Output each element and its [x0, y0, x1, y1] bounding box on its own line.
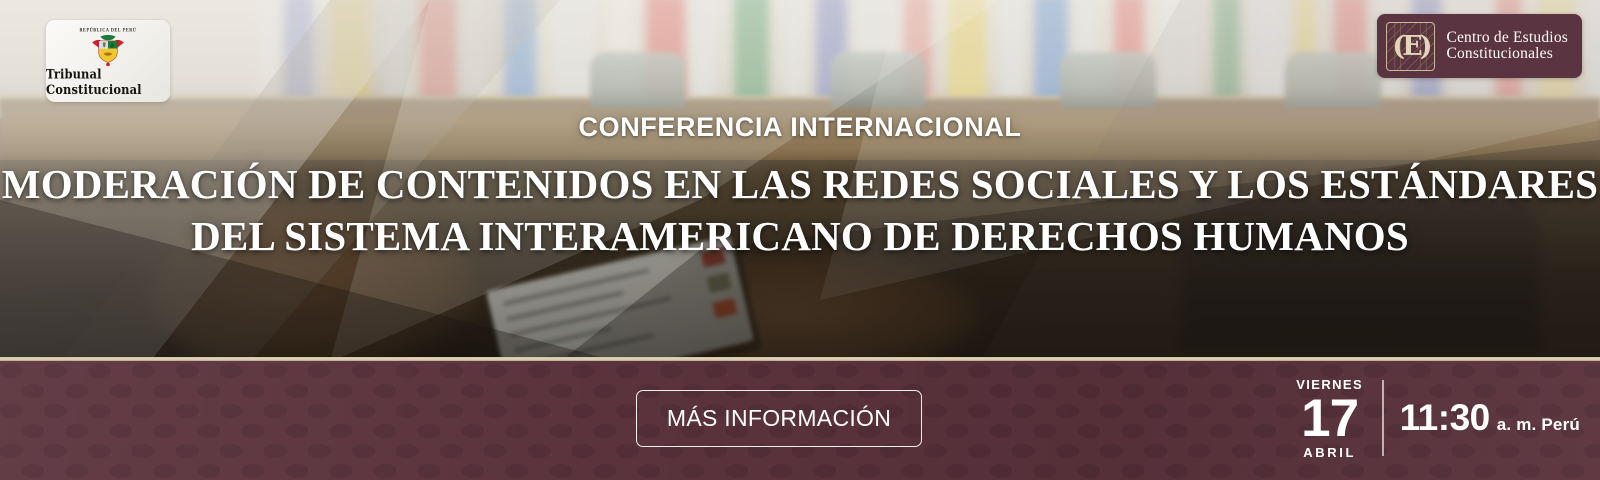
photo-flag — [1160, 0, 1201, 106]
photo-chair — [1060, 52, 1156, 108]
cec-monogram-glyph: (E) — [1387, 23, 1434, 70]
datetime-divider — [1382, 380, 1384, 456]
mas-informacion-button[interactable]: MÁS INFORMACIÓN — [636, 390, 922, 447]
photo-flag — [784, 0, 804, 106]
photo-flag — [1000, 0, 1023, 106]
photo-flag — [1250, 0, 1287, 106]
event-title-line-2: DEL SISTEMA INTERAMERICANO DE DERECHOS H… — [0, 211, 1600, 263]
photo-flag — [948, 0, 986, 106]
event-kicker: CONFERENCIA INTERNACIONAL — [0, 112, 1600, 143]
photo-chair — [1285, 52, 1381, 108]
cec-logo-text: Centro de Estudios Constitucionales — [1446, 30, 1568, 62]
event-title: MODERACIÓN DE CONTENIDOS EN LAS REDES SO… — [0, 159, 1600, 262]
event-day-number: 17 — [1301, 392, 1358, 445]
photo-flag — [734, 0, 769, 106]
cec-logo-line2: Constitucionales — [1446, 46, 1568, 62]
photo-flag — [1588, 0, 1600, 106]
photo-flag — [330, 0, 370, 106]
photo-flag — [284, 0, 313, 106]
cec-logo-line1: Centro de Estudios — [1446, 30, 1568, 46]
photo-flag — [260, 0, 278, 106]
photo-flag — [692, 0, 716, 106]
photo-flag — [504, 0, 536, 106]
coat-of-arms-caption: REPÚBLICA DEL PERÚ — [79, 26, 136, 32]
photo-flag — [552, 0, 595, 106]
cec-monogram-icon: (E) — [1386, 22, 1435, 71]
photo-flag — [464, 0, 485, 106]
event-datetime: VIERNES 17 ABRIL 11:30 a. m. Perú — [1286, 372, 1580, 464]
conference-banner: REPÚBLICA DEL PERÚ Tribunal Constitucion… — [0, 0, 1600, 480]
event-time: 11:30 — [1400, 397, 1490, 439]
event-meridiem-timezone: a. m. Perú — [1497, 415, 1580, 435]
photo-flag — [384, 0, 409, 106]
photo-flag — [420, 0, 456, 106]
event-title-line-1: MODERACIÓN DE CONTENIDOS EN LAS REDES SO… — [0, 159, 1600, 211]
headline-block: CONFERENCIA INTERNACIONAL MODERACIÓN DE … — [0, 112, 1600, 262]
event-date: VIERNES 17 ABRIL — [1286, 378, 1374, 459]
event-time-block: 11:30 a. m. Perú — [1400, 397, 1580, 439]
photo-chair — [830, 52, 926, 108]
photo-chair — [590, 52, 686, 108]
peru-coat-of-arms-icon — [85, 32, 131, 66]
tribunal-constitucional-logo[interactable]: REPÚBLICA DEL PERÚ Tribunal Constitucion… — [46, 20, 170, 102]
centro-estudios-constitucionales-logo[interactable]: (E) Centro de Estudios Constitucionales — [1377, 14, 1582, 78]
event-month: ABRIL — [1303, 446, 1356, 459]
photo-flag — [1214, 0, 1240, 106]
tribunal-logo-label: Tribunal Constitucional — [46, 66, 170, 97]
